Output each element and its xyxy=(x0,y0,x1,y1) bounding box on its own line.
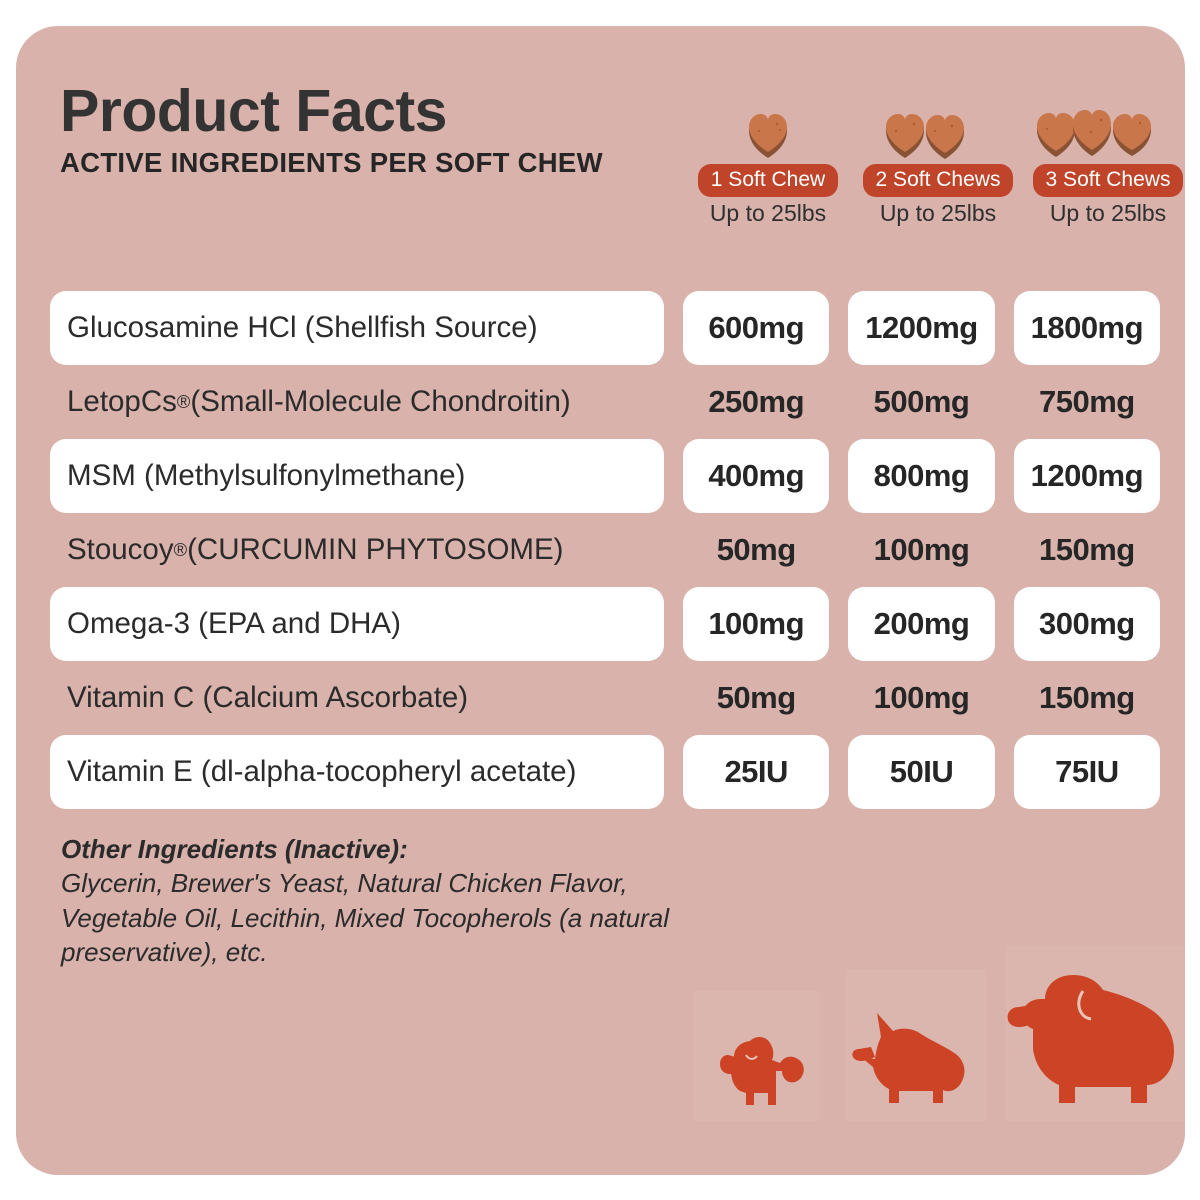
page-title: Product Facts xyxy=(60,81,700,143)
ingredient-value: 800mg xyxy=(848,439,994,513)
other-ingredients-section: Other Ingredients (Inactive): Glycerin, … xyxy=(61,832,731,969)
ingredient-value: 100mg xyxy=(848,661,994,735)
ingredient-name: Omega-3 (EPA and DHA) xyxy=(50,587,664,661)
ingredient-value: 150mg xyxy=(1014,661,1160,735)
dose-weight-label: Up to 25lbs xyxy=(858,200,1018,227)
ingredient-value: 1200mg xyxy=(1014,439,1160,513)
large-dog-icon xyxy=(1001,963,1183,1113)
ingredient-name: LetopCs® (Small-Molecule Chondroitin) xyxy=(50,365,664,439)
ingredient-value: 75IU xyxy=(1014,735,1160,809)
dose-badge: 2 Soft Chews xyxy=(863,164,1014,197)
table-row: Vitamin E (dl-alpha-tocopheryl acetate) … xyxy=(50,735,1160,809)
ingredient-value: 25IU xyxy=(683,735,829,809)
table-row: Stoucoy® (CURCUMIN PHYTOSOME) 50mg 100mg… xyxy=(50,513,1160,587)
ingredient-value: 300mg xyxy=(1014,587,1160,661)
table-row: MSM (Methylsulfonylmethane) 400mg 800mg … xyxy=(50,439,1160,513)
ingredient-name: Stoucoy® (CURCUMIN PHYTOSOME) xyxy=(50,513,664,587)
ingredient-value: 750mg xyxy=(1014,365,1160,439)
ingredient-name: Vitamin E (dl-alpha-tocopheryl acetate) xyxy=(50,735,664,809)
soft-chew-heart-icon xyxy=(688,104,848,160)
table-row: Vitamin C (Calcium Ascorbate) 50mg 100mg… xyxy=(50,661,1160,735)
dose-column-2-chews: 2 Soft Chews Up to 25lbs xyxy=(858,104,1018,227)
medium-dog-icon xyxy=(851,1007,971,1113)
table-row: LetopCs® (Small-Molecule Chondroitin) 25… xyxy=(50,365,1160,439)
dose-column-1-chew: 1 Soft Chew Up to 25lbs xyxy=(688,104,848,227)
ingredient-value: 1800mg xyxy=(1014,291,1160,365)
soft-chew-heart-icon xyxy=(858,104,1018,160)
ingredient-value: 400mg xyxy=(683,439,829,513)
dose-badge: 3 Soft Chews xyxy=(1033,164,1184,197)
ingredient-name: Vitamin C (Calcium Ascorbate) xyxy=(50,661,664,735)
small-dog-icon xyxy=(714,1027,810,1113)
other-ingredients-body: Glycerin, Brewer's Yeast, Natural Chicke… xyxy=(61,866,731,969)
table-row: Omega-3 (EPA and DHA) 100mg 200mg 300mg xyxy=(50,587,1160,661)
ingredient-value: 100mg xyxy=(848,513,994,587)
ingredient-value: 500mg xyxy=(848,365,994,439)
page-subtitle: ACTIVE INGREDIENTS PER SOFT CHEW xyxy=(60,147,700,179)
ingredient-value: 250mg xyxy=(683,365,829,439)
ingredient-name: MSM (Methylsulfonylmethane) xyxy=(50,439,664,513)
ingredient-value: 150mg xyxy=(1014,513,1160,587)
other-ingredients-title: Other Ingredients (Inactive): xyxy=(61,832,731,866)
dose-weight-label: Up to 25lbs xyxy=(688,200,848,227)
header: Product Facts ACTIVE INGREDIENTS PER SOF… xyxy=(60,81,700,179)
dose-column-3-chews: 3 Soft Chews Up to 25lbs xyxy=(1028,104,1185,227)
ingredient-value: 50IU xyxy=(848,735,994,809)
ingredient-value: 50mg xyxy=(683,661,829,735)
ingredient-value: 50mg xyxy=(683,513,829,587)
dose-weight-label: Up to 25lbs xyxy=(1028,200,1185,227)
ingredient-value: 600mg xyxy=(683,291,829,365)
ingredient-value: 200mg xyxy=(848,587,994,661)
ingredient-value: 100mg xyxy=(683,587,829,661)
ingredient-name: Glucosamine HCl (Shellfish Source) xyxy=(50,291,664,365)
ingredient-value: 1200mg xyxy=(848,291,994,365)
dose-badge: 1 Soft Chew xyxy=(698,164,838,197)
soft-chew-heart-icon xyxy=(1028,104,1185,160)
dog-size-illustrations xyxy=(676,946,1185,1121)
product-facts-card: Product Facts ACTIVE INGREDIENTS PER SOF… xyxy=(16,26,1185,1175)
ingredients-table: Glucosamine HCl (Shellfish Source) 600mg… xyxy=(50,291,1160,809)
table-row: Glucosamine HCl (Shellfish Source) 600mg… xyxy=(50,291,1160,365)
